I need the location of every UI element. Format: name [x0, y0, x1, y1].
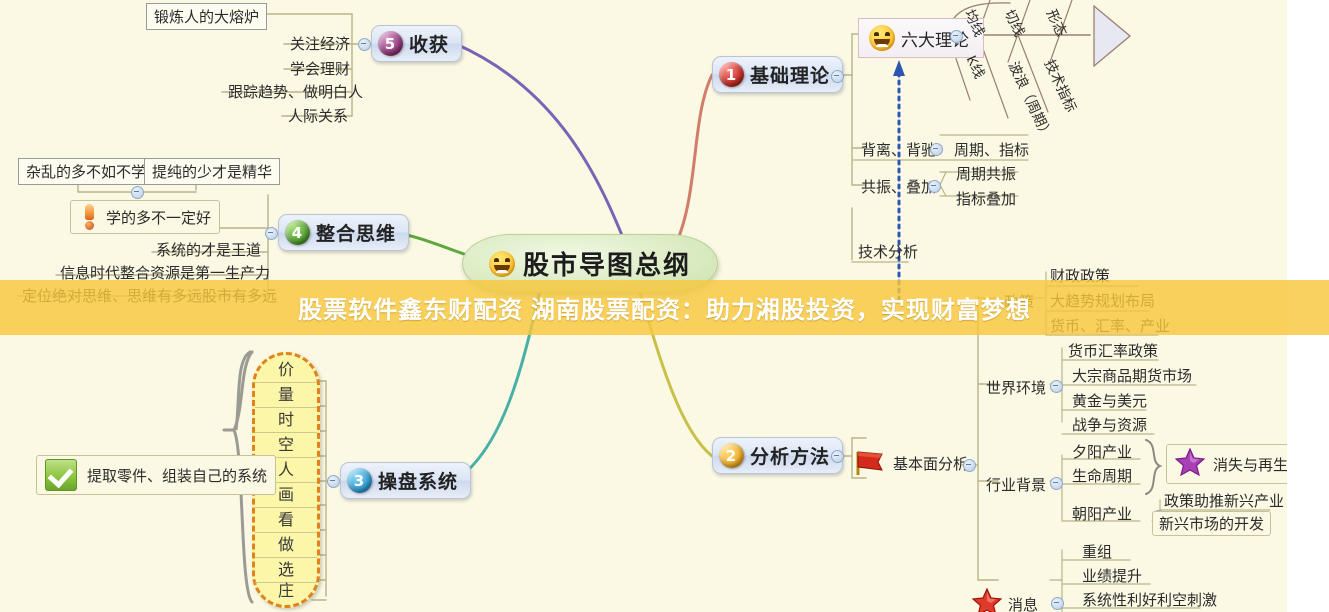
branch-label: 收获	[409, 30, 449, 57]
branch-basic-theory[interactable]: 1 基础理论	[712, 56, 843, 93]
industry-bracket-note[interactable]: 消失与再生	[1166, 444, 1287, 484]
world-env-item-2[interactable]: 黄金与美元	[1066, 389, 1153, 413]
news-item-3[interactable]: 系统性利好利空刺激	[1076, 588, 1223, 612]
collapse-knob[interactable]	[327, 475, 340, 488]
branch-number-badge: 4	[285, 220, 310, 245]
branch-number-badge: 5	[378, 31, 403, 56]
branch-integration[interactable]: 4 整合思维	[278, 214, 409, 251]
integration-main-note-label: 学的多不一定好	[106, 207, 211, 228]
news-item-2[interactable]: 业绩提升	[1076, 564, 1148, 588]
industry-bracket-label: 消失与再生	[1213, 454, 1287, 475]
integration-main-note[interactable]: 学的多不一定好	[70, 200, 220, 234]
news-item-1[interactable]: 重组	[1076, 540, 1118, 564]
collapse-knob[interactable]	[928, 180, 941, 193]
industry-node[interactable]: 行业背景	[980, 473, 1052, 497]
fishbone-top-3: 形态	[1042, 6, 1072, 40]
branch-number-badge: 1	[719, 62, 744, 87]
collapse-knob[interactable]	[1050, 477, 1063, 490]
integration-note-1[interactable]: 杂乱的多不如不学	[18, 158, 154, 185]
divergence-node[interactable]: 背离、背驰	[855, 138, 942, 162]
harvest-item-4[interactable]: 人际关系	[282, 104, 354, 128]
laughing-face-emoji	[869, 25, 895, 51]
cloud-item[interactable]: 做	[255, 533, 317, 558]
orange-exclamation-icon	[83, 204, 96, 230]
red-flag-icon	[852, 450, 886, 476]
integration-item-1[interactable]: 系统的才是王道	[150, 238, 267, 262]
branch-trading-system[interactable]: 3 操盘系统	[340, 462, 471, 499]
resonance-child-2[interactable]: 指标叠加	[950, 187, 1022, 211]
collapse-knob[interactable]	[1051, 597, 1064, 610]
trading-system-note[interactable]: 提取零件、组装自己的系统	[36, 455, 276, 495]
collapse-knob[interactable]	[930, 143, 943, 156]
collapse-knob[interactable]	[358, 38, 371, 51]
promo-banner: 股票软件鑫东财配资 湖南股票配资：助力湘股投资，实现财富梦想	[0, 280, 1329, 335]
harvest-item-2[interactable]: 学会理财	[284, 57, 356, 81]
branch-number-badge: 3	[347, 468, 372, 493]
news-label: 消息	[1008, 594, 1038, 612]
industry-item-1[interactable]: 夕阳产业	[1066, 440, 1138, 464]
harvest-item-3[interactable]: 跟踪趋势、做明白人	[222, 80, 369, 104]
collapse-knob[interactable]	[831, 70, 844, 83]
sunrise-child-2[interactable]: 新兴市场的开发	[1152, 511, 1271, 536]
fundamental-analysis-node[interactable]: 基本面分析	[852, 450, 968, 476]
collapse-knob[interactable]	[131, 186, 144, 199]
cloud-item[interactable]: 量	[255, 383, 317, 408]
collapse-knob[interactable]	[963, 459, 976, 472]
world-env-item-1[interactable]: 大宗商品期货市场	[1066, 364, 1198, 388]
cloud-item[interactable]: 价	[255, 358, 317, 383]
cloud-item[interactable]: 时	[255, 408, 317, 433]
laughing-face-emoji	[489, 251, 515, 277]
policy-item-4[interactable]: 货币汇率政策	[1062, 339, 1164, 363]
branch-label: 分析方法	[750, 442, 830, 469]
divergence-child[interactable]: 周期、指标	[948, 138, 1035, 162]
red-star-icon	[972, 588, 1002, 612]
branch-analysis-method[interactable]: 2 分析方法	[712, 437, 843, 474]
branch-label: 基础理论	[750, 61, 830, 88]
news-node[interactable]: 消息	[972, 588, 1038, 612]
fishbone-top-2: 切线	[1000, 6, 1030, 40]
branch-harvest[interactable]: 5 收获	[371, 25, 462, 62]
technical-analysis-node[interactable]: 技术分析	[852, 240, 924, 264]
industry-item-2[interactable]: 生命周期	[1066, 464, 1138, 488]
branch-number-badge: 2	[719, 443, 744, 468]
collapse-knob[interactable]	[1050, 380, 1063, 393]
world-env-item-3[interactable]: 战争与资源	[1066, 413, 1153, 437]
world-env-node[interactable]: 世界环境	[980, 376, 1052, 400]
promo-banner-text: 股票软件鑫东财配资 湖南股票配资：助力湘股投资，实现财富梦想	[298, 290, 1031, 325]
collapse-knob[interactable]	[950, 30, 963, 43]
collapse-knob[interactable]	[831, 450, 844, 463]
harvest-item-1[interactable]: 关注经济	[284, 32, 356, 56]
industry-item-3[interactable]: 朝阳产业	[1066, 502, 1138, 526]
purple-star-icon	[1175, 448, 1205, 480]
sunrise-child-1[interactable]: 政策助推新兴产业	[1158, 489, 1287, 513]
cloud-item[interactable]: 庄	[255, 579, 317, 604]
trading-system-note-label: 提取零件、组装自己的系统	[87, 465, 267, 486]
integration-note-2[interactable]: 提纯的少才是精华	[144, 158, 280, 185]
cloud-item[interactable]: 看	[255, 508, 317, 533]
fundamental-analysis-label: 基本面分析	[893, 453, 968, 474]
center-node-label: 股市导图总纲	[523, 245, 691, 282]
resonance-child-1[interactable]: 周期共振	[950, 162, 1022, 186]
mindmap-canvas: 股市导图总纲 1 基础理论 六大理论 均线 切线 形态 K线 波浪（周期） 技术…	[0, 0, 1329, 612]
green-check-icon	[45, 459, 77, 491]
branch-label: 整合思维	[316, 219, 396, 246]
fishbone-bottom-3: 技术指标	[1040, 56, 1082, 115]
harvest-top-note[interactable]: 锻炼人的大熔炉	[146, 3, 267, 30]
branch-label: 操盘系统	[378, 467, 458, 494]
